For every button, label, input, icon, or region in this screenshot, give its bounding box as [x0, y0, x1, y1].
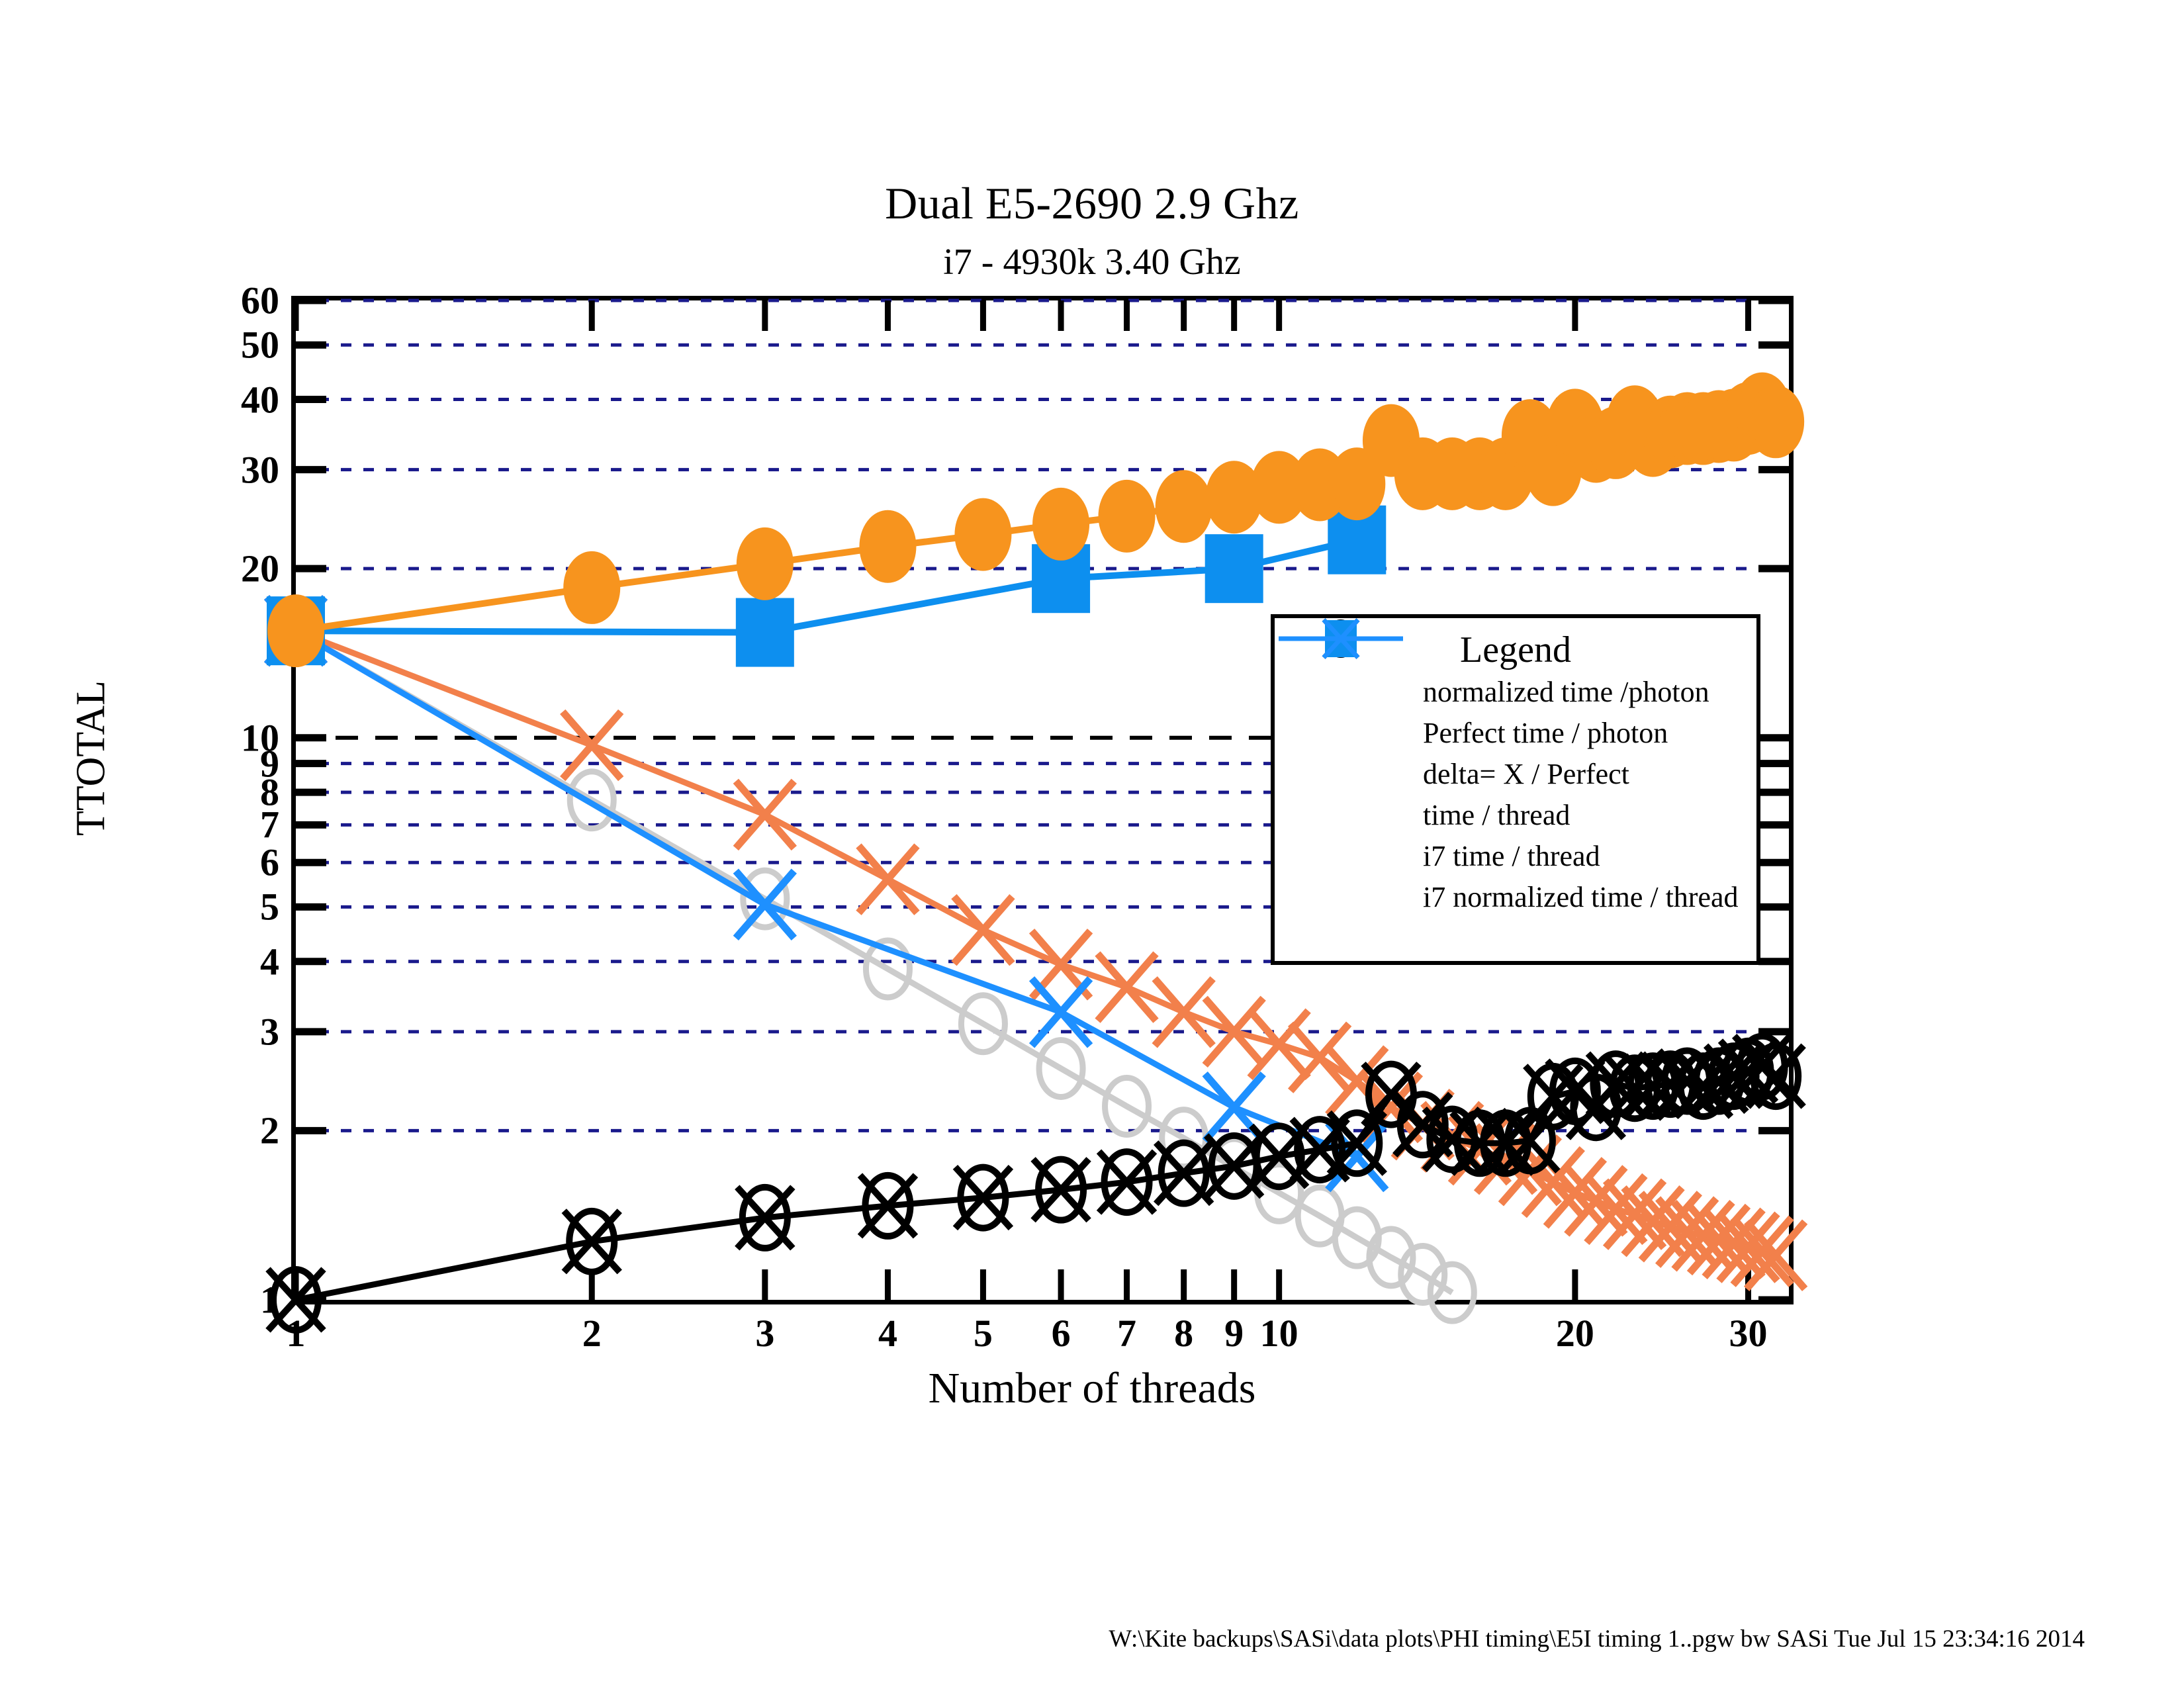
y-tick-label: 4	[147, 939, 279, 983]
y-tick-label: 40	[147, 377, 279, 422]
legend-label: time / thread	[1423, 798, 1570, 832]
legend-symbol-o-icon	[1291, 712, 1423, 753]
legend-item[interactable]: Perfect time / photon	[1291, 712, 1756, 753]
legend-label: i7 time / thread	[1423, 839, 1600, 873]
x-tick-label: 30	[1696, 1311, 1801, 1355]
x-tick-label: 4	[835, 1311, 940, 1355]
x-tick-label: 10	[1226, 1311, 1332, 1355]
legend-label: i7 normalized time / thread	[1423, 880, 1739, 914]
legend-rows: normalized time /photonPerfect time / ph…	[1275, 671, 1756, 917]
legend-symbol-ellipse-filled-icon	[1291, 794, 1423, 835]
legend-symbol-square-filled-icon	[1291, 835, 1423, 876]
legend-symbol-x-icon	[1291, 671, 1423, 712]
y-tick-label: 20	[147, 547, 279, 591]
y-tick-label: 2	[147, 1109, 279, 1153]
legend-item[interactable]: i7 time / thread	[1291, 835, 1756, 876]
y-tick-label: 10	[147, 715, 279, 760]
legend-symbol-x-icon	[1291, 876, 1423, 917]
y-tick-label: 5	[147, 885, 279, 929]
legend-label: delta= X / Perfect	[1423, 757, 1629, 791]
y-axis-label: TTOTAL	[68, 606, 115, 911]
y-tick-label: 50	[147, 323, 279, 367]
legend-item[interactable]: i7 normalized time / thread	[1291, 876, 1756, 917]
legend-item[interactable]: normalized time /photon	[1291, 671, 1756, 712]
x-tick-label: 3	[712, 1311, 818, 1355]
y-tick-label: 60	[147, 279, 279, 323]
chart-figure: Dual E5-2690 2.9 Ghz i7 - 4930k 3.40 Ghz…	[0, 0, 2184, 1687]
x-axis-label: Number of threads	[0, 1363, 2184, 1414]
y-tick-label: 30	[147, 447, 279, 492]
footer-caption: W:\Kite backups\SASi\data plots\PHI timi…	[0, 1625, 2085, 1653]
chart-title: Dual E5-2690 2.9 Ghz	[0, 177, 2184, 230]
x-tick-label: 20	[1522, 1311, 1628, 1355]
chart-subtitle: i7 - 4930k 3.40 Ghz	[0, 241, 2184, 283]
legend-box: Legend normalized time /photonPerfect ti…	[1271, 614, 1760, 965]
series-4	[267, 506, 1386, 667]
legend-item[interactable]: delta= X / Perfect	[1291, 753, 1756, 794]
legend-label: normalized time /photon	[1423, 675, 1709, 709]
legend-item[interactable]: time / thread	[1291, 794, 1756, 835]
y-tick-label: 3	[147, 1009, 279, 1054]
legend-label: Perfect time / photon	[1423, 716, 1668, 750]
legend-symbol-circle-x-icon	[1291, 753, 1423, 794]
x-tick-label: 2	[539, 1311, 645, 1355]
